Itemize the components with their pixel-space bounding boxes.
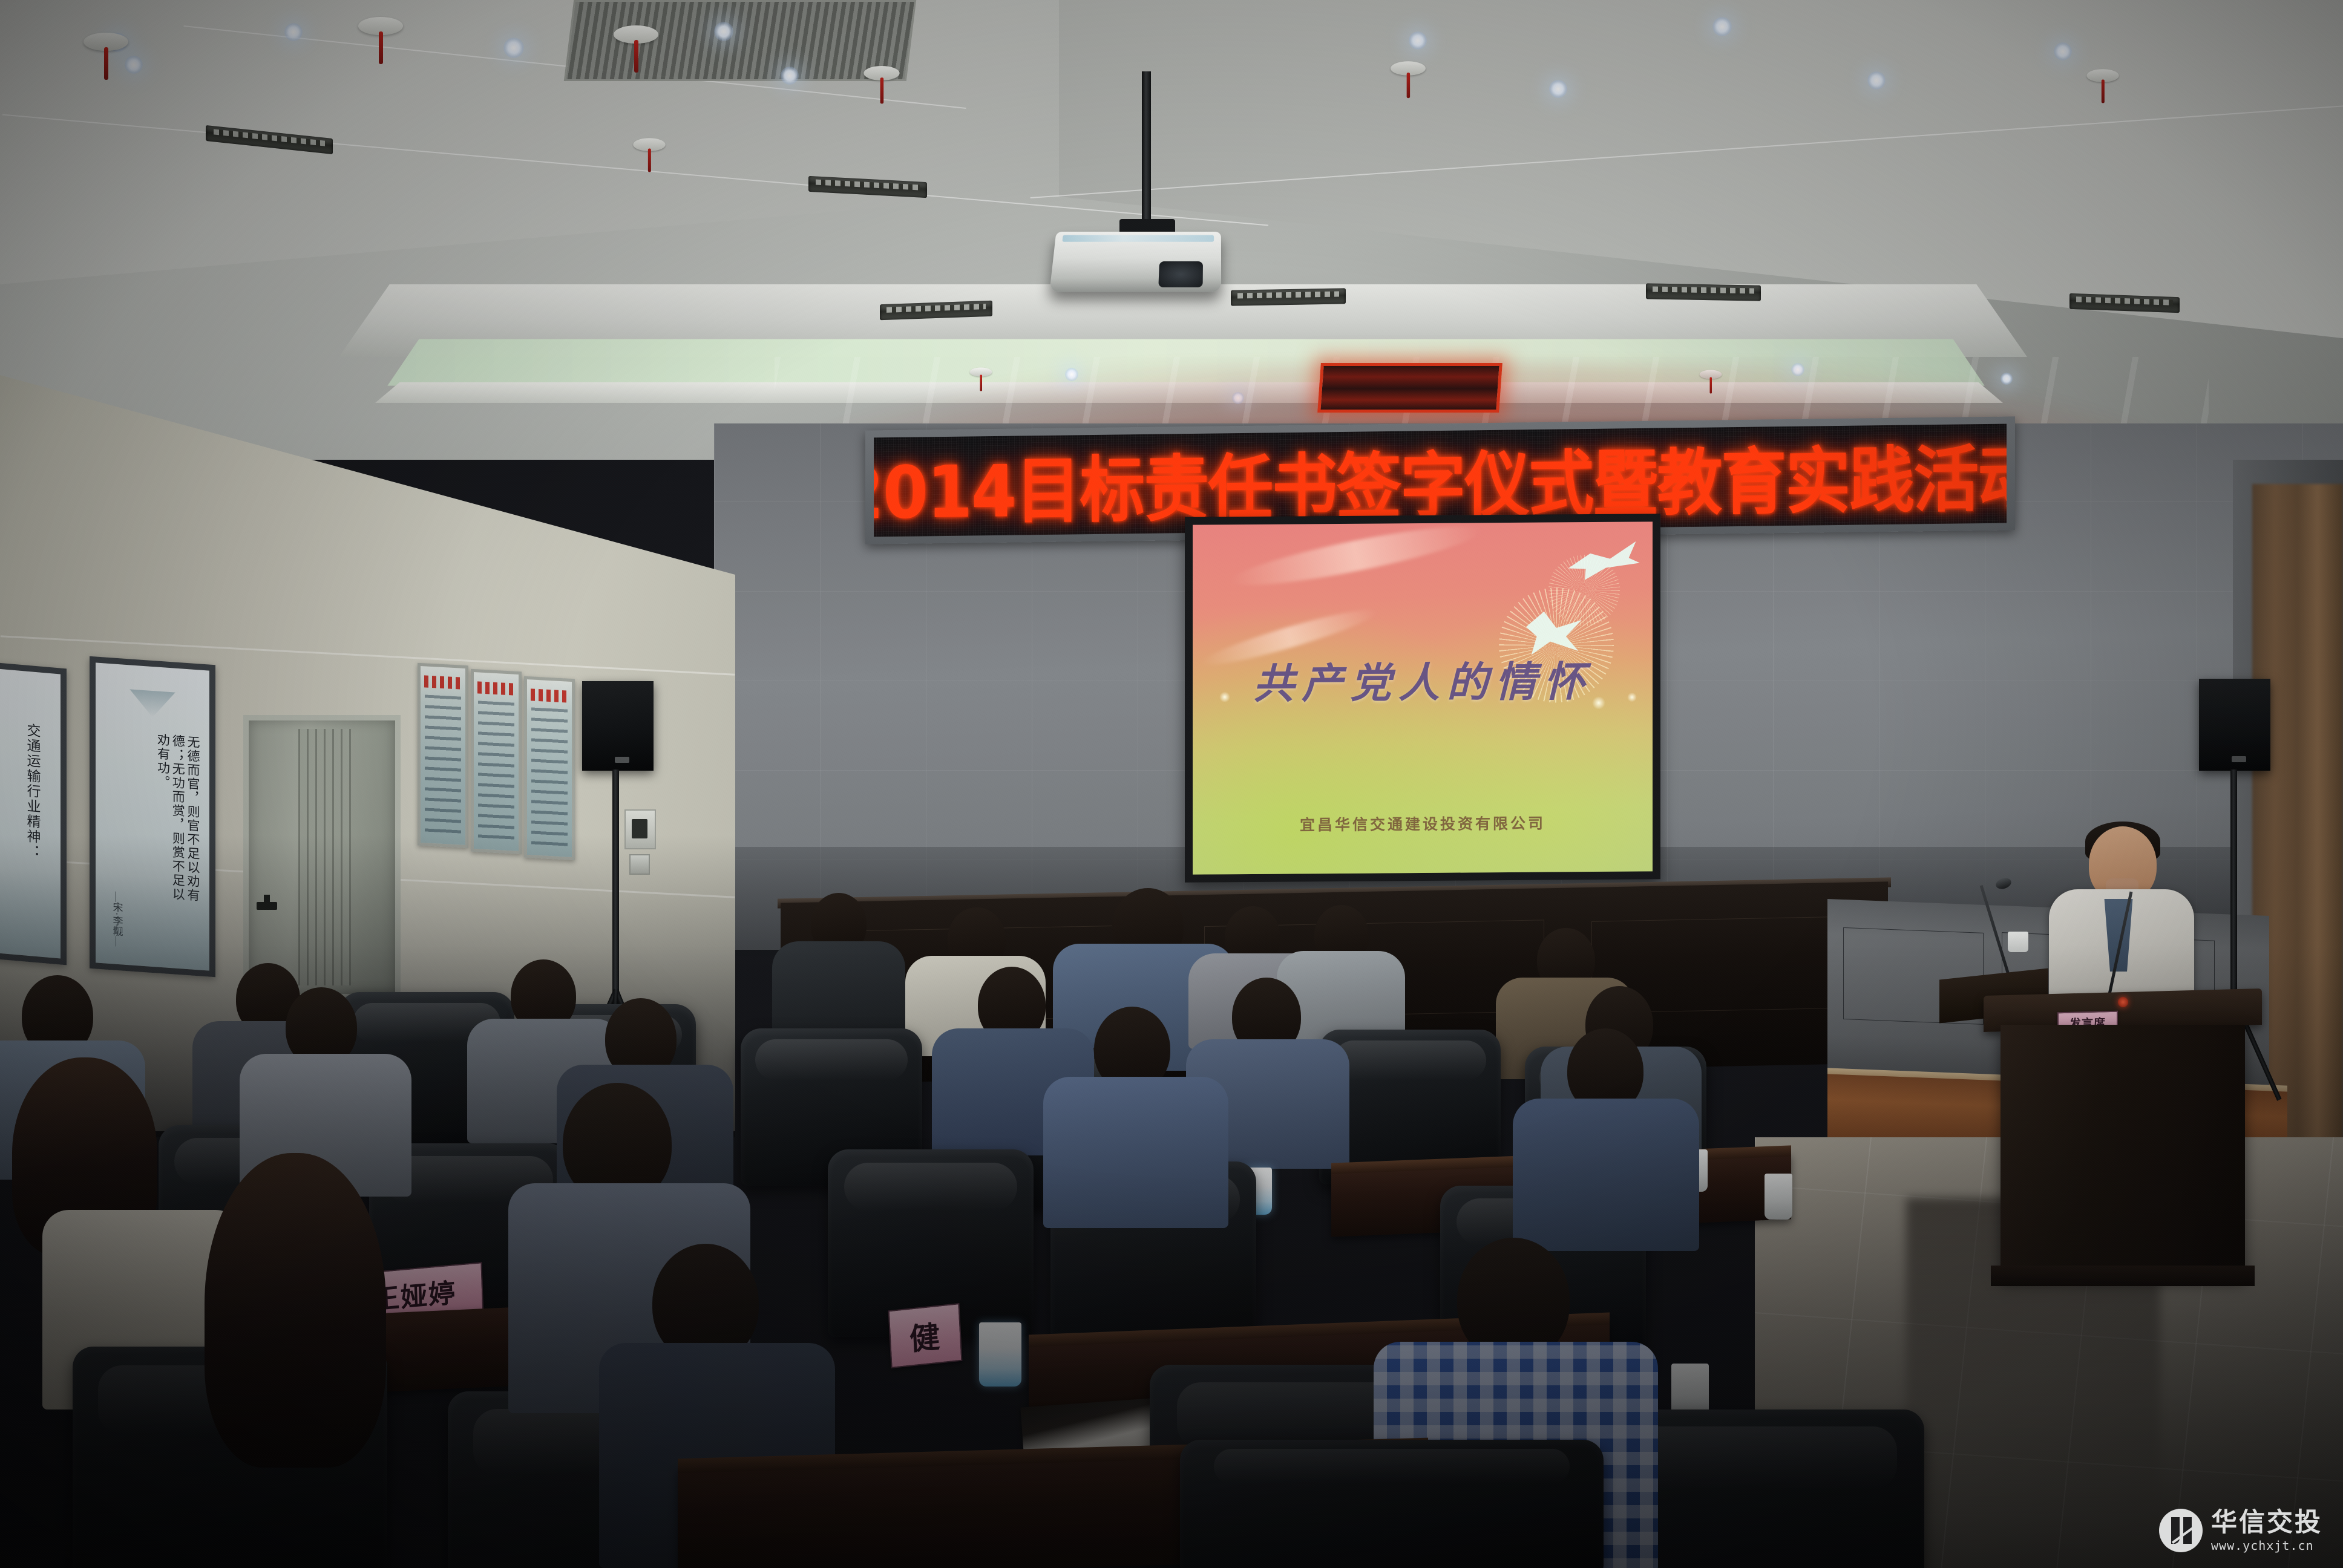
downlight-icon [503, 38, 524, 58]
downlight-icon [125, 56, 143, 74]
downlight-icon [1712, 17, 1732, 36]
person-torso [1043, 1077, 1228, 1228]
smoke-detector-icon [2086, 69, 2119, 82]
bulletin-body-text [425, 694, 462, 834]
downlight-icon [781, 67, 799, 85]
podium-body [2001, 1025, 2245, 1278]
person-torso [772, 941, 905, 1038]
smoke-detector-icon [614, 25, 658, 44]
infrared-heater [1317, 363, 1502, 413]
pa-speaker-right [2199, 679, 2270, 771]
screen-title: 共产党人的情怀 [1193, 647, 1653, 710]
paper-cup [1765, 1174, 1792, 1220]
podium-cup [2008, 932, 2028, 952]
bulletin-header [477, 681, 515, 696]
speaker-stand-pole [612, 769, 619, 1005]
spot-fixture [1231, 288, 1346, 305]
downlight-icon [2054, 42, 2072, 60]
table-nameplate: 健 [888, 1303, 963, 1368]
podium-base [1991, 1266, 2255, 1286]
audience-chair [1180, 1440, 1604, 1568]
smoke-detector-icon [863, 66, 899, 80]
bulletin-board [418, 663, 468, 848]
watermark-texts: 华信交投 www.ychxjt.cn [2211, 1510, 2322, 1552]
smoke-detector-icon [358, 17, 403, 35]
downlight-icon [1867, 71, 1886, 90]
bulletin-body-text [478, 701, 515, 840]
paper-cup [1671, 1364, 1709, 1417]
smoke-detector-icon [84, 33, 128, 51]
paper-cup [979, 1322, 1021, 1387]
speaker-stand-pole [2230, 769, 2237, 1015]
bulletin-body-text [531, 708, 568, 846]
downlight-icon [1409, 31, 1427, 50]
person-torso [1513, 1099, 1699, 1251]
company-logo-icon [2159, 1509, 2203, 1552]
bulletin-board [471, 669, 522, 854]
watermark: 华信交投 www.ychxjt.cn [2159, 1509, 2322, 1552]
conference-hall-photo: 交通运输行业精神： 无德而官，则官不足以劝有德；无功而赏，则赏不足以劝有功。 —… [0, 0, 2343, 1568]
screen-ribbon [1228, 521, 1484, 595]
person-hair [205, 1153, 386, 1468]
projection-screen-frame: 共产党人的情怀 宜昌华信交通建设投资有限公司 [1185, 514, 1660, 882]
bulletin-board [524, 676, 575, 860]
downlight-icon [284, 23, 303, 41]
smoke-detector-icon [1391, 61, 1426, 75]
smoke-detector-icon [633, 138, 665, 151]
screen-subtitle: 宜昌华信交通建设投资有限公司 [1193, 811, 1653, 836]
spot-fixture [1646, 283, 1761, 301]
pa-speaker-left [582, 681, 654, 771]
bulletin-header [531, 688, 568, 703]
watermark-company: 华信交投 [2211, 1510, 2322, 1536]
downlight-icon [714, 22, 733, 41]
projector-pole [1142, 71, 1151, 229]
watermark-url: www.ychxjt.cn [2211, 1540, 2322, 1552]
bulletin-header [424, 675, 462, 690]
downlight-icon [1549, 80, 1567, 98]
poster-chevron-icon [129, 689, 175, 719]
table-nameplate-label: 健 [908, 1312, 942, 1359]
ceiling-projector [1049, 232, 1221, 292]
logo-slash [2172, 1527, 2194, 1544]
air-vent-grille [564, 0, 916, 81]
projection-screen: 共产党人的情怀 宜昌华信交通建设投资有限公司 [1193, 521, 1653, 874]
microphone-indicator-led [2118, 997, 2128, 1007]
